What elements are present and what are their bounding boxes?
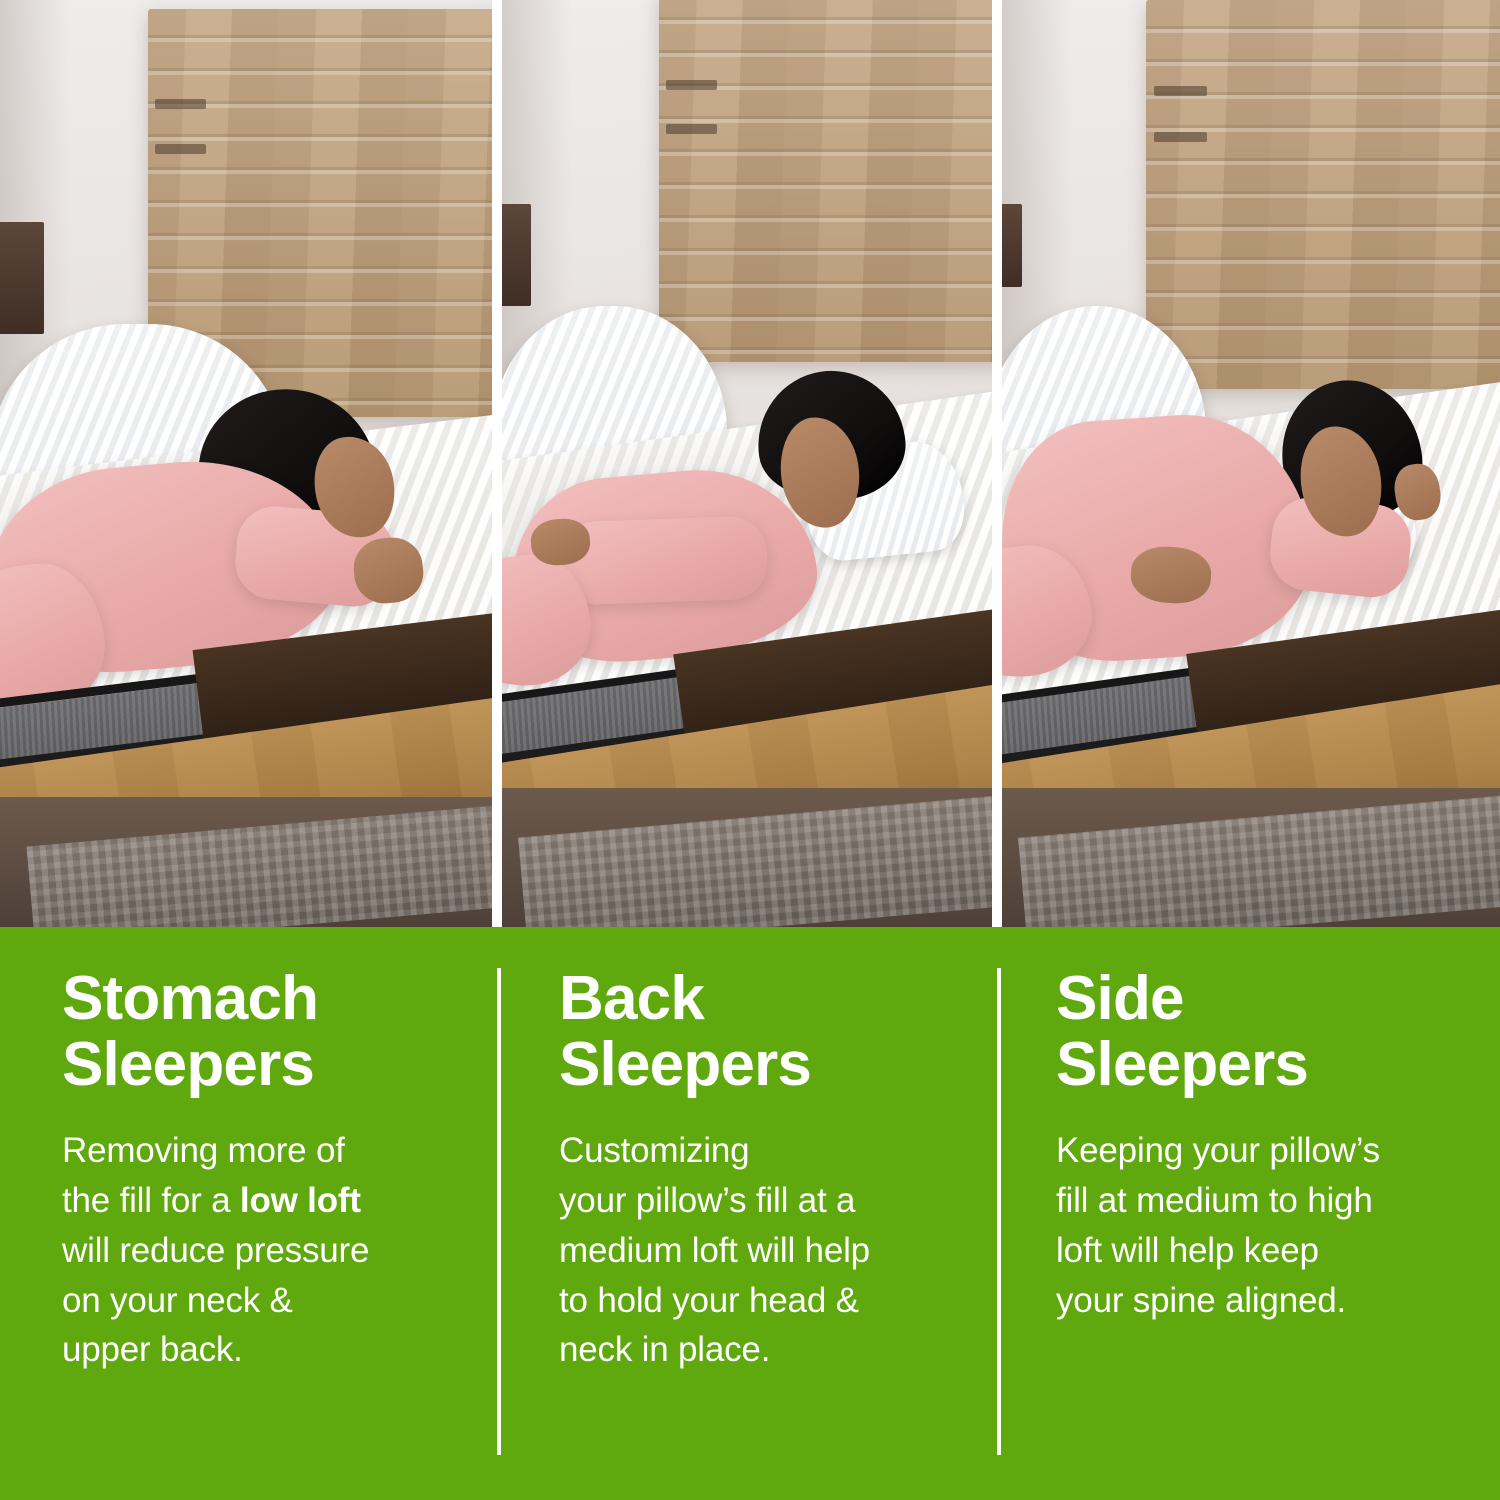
- back-sleepers-body: Customizing your pillow’s fill at a medi…: [559, 1097, 998, 1374]
- back-body-part-1: Customizing your pillow’s fill at a medi…: [559, 1131, 870, 1369]
- arm: [559, 516, 768, 607]
- stomach-body-part-2: will reduce pressure on your neck & uppe…: [62, 1231, 369, 1369]
- photo-gap-1: [492, 0, 502, 927]
- back-sleepers-title: Back Sleepers: [559, 927, 998, 1097]
- wooden-headboard: [1146, 0, 1500, 389]
- side-sleeper-photo: [1002, 0, 1500, 927]
- back-sleeper-photo: [502, 0, 992, 927]
- stomach-body-highlight: low loft: [240, 1181, 361, 1220]
- nightstand: [0, 222, 44, 333]
- stomach-sleepers-title: Stomach Sleepers: [62, 927, 499, 1097]
- nightstand: [1002, 204, 1022, 287]
- stomach-sleeper-photo: [0, 0, 492, 927]
- photo-strip: [0, 0, 1500, 927]
- wooden-headboard: [659, 0, 992, 362]
- pillow-loft-infographic: Stomach Sleepers Removing more of the fi…: [0, 0, 1500, 1500]
- side-body-part-1: Keeping your pillow’s fill at medium to …: [1056, 1131, 1380, 1319]
- nightstand: [502, 204, 531, 306]
- side-sleepers-title: Side Sleepers: [1056, 927, 1500, 1097]
- stomach-sleepers-body: Removing more of the fill for a low loft…: [62, 1097, 499, 1374]
- caption-column-stomach: Stomach Sleepers Removing more of the fi…: [0, 927, 499, 1500]
- photo-gap-2: [992, 0, 1002, 927]
- caption-column-back: Back Sleepers Customizing your pillow’s …: [499, 927, 998, 1500]
- column-divider-1: [497, 968, 501, 1455]
- caption-panel: Stomach Sleepers Removing more of the fi…: [0, 927, 1500, 1500]
- column-divider-2: [997, 968, 1001, 1455]
- side-sleepers-body: Keeping your pillow’s fill at medium to …: [1056, 1097, 1500, 1325]
- caption-column-side: Side Sleepers Keeping your pillow’s fill…: [998, 927, 1500, 1500]
